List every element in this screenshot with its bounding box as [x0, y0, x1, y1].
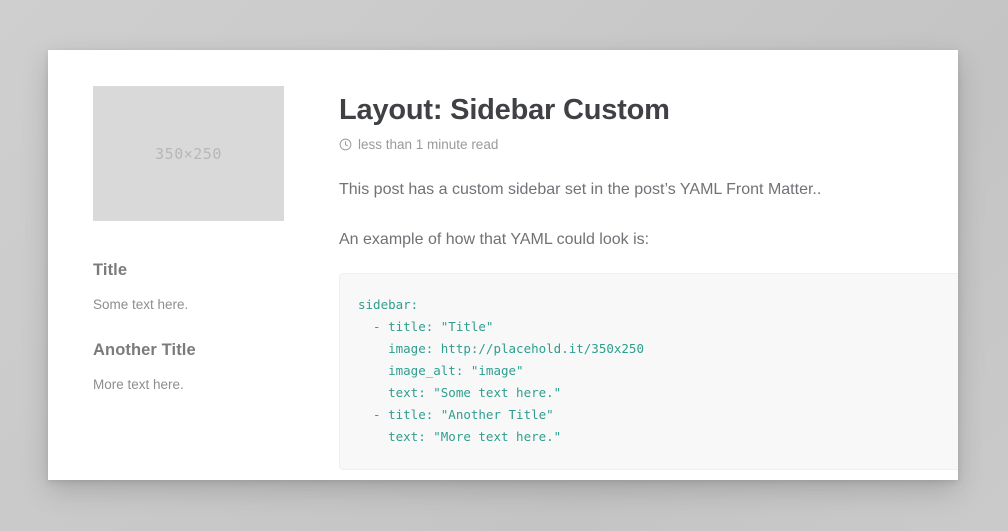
sidebar-block-title: Title	[93, 261, 309, 280]
post-paragraph: This post has a custom sidebar set in th…	[339, 178, 958, 201]
post-meta: less than 1 minute read	[339, 137, 958, 152]
sidebar-block: Title Some text here.	[93, 261, 309, 315]
sidebar-block: Another Title More text here.	[93, 341, 309, 395]
post-sidebar: 350×250 Title Some text here. Another Ti…	[93, 86, 339, 422]
page-card: 350×250 Title Some text here. Another Ti…	[48, 50, 958, 480]
sidebar-block-title: Another Title	[93, 341, 309, 360]
read-time-label: less than 1 minute read	[358, 137, 498, 152]
sidebar-image-placeholder: 350×250	[93, 86, 284, 221]
sidebar-image-placeholder-label: 350×250	[155, 145, 222, 163]
post-paragraph: An example of how that YAML could look i…	[339, 228, 958, 251]
page-title: Layout: Sidebar Custom	[339, 94, 958, 127]
post-layout: 350×250 Title Some text here. Another Ti…	[48, 50, 958, 470]
sidebar-block-text: More text here.	[93, 375, 309, 395]
clock-icon	[339, 138, 352, 151]
code-block-content: sidebar: - title: "Title" image: http://…	[358, 294, 958, 449]
sidebar-block-text: Some text here.	[93, 295, 309, 315]
code-block: sidebar: - title: "Title" image: http://…	[339, 273, 958, 470]
post-main: Layout: Sidebar Custom less than 1 minut…	[339, 86, 958, 470]
